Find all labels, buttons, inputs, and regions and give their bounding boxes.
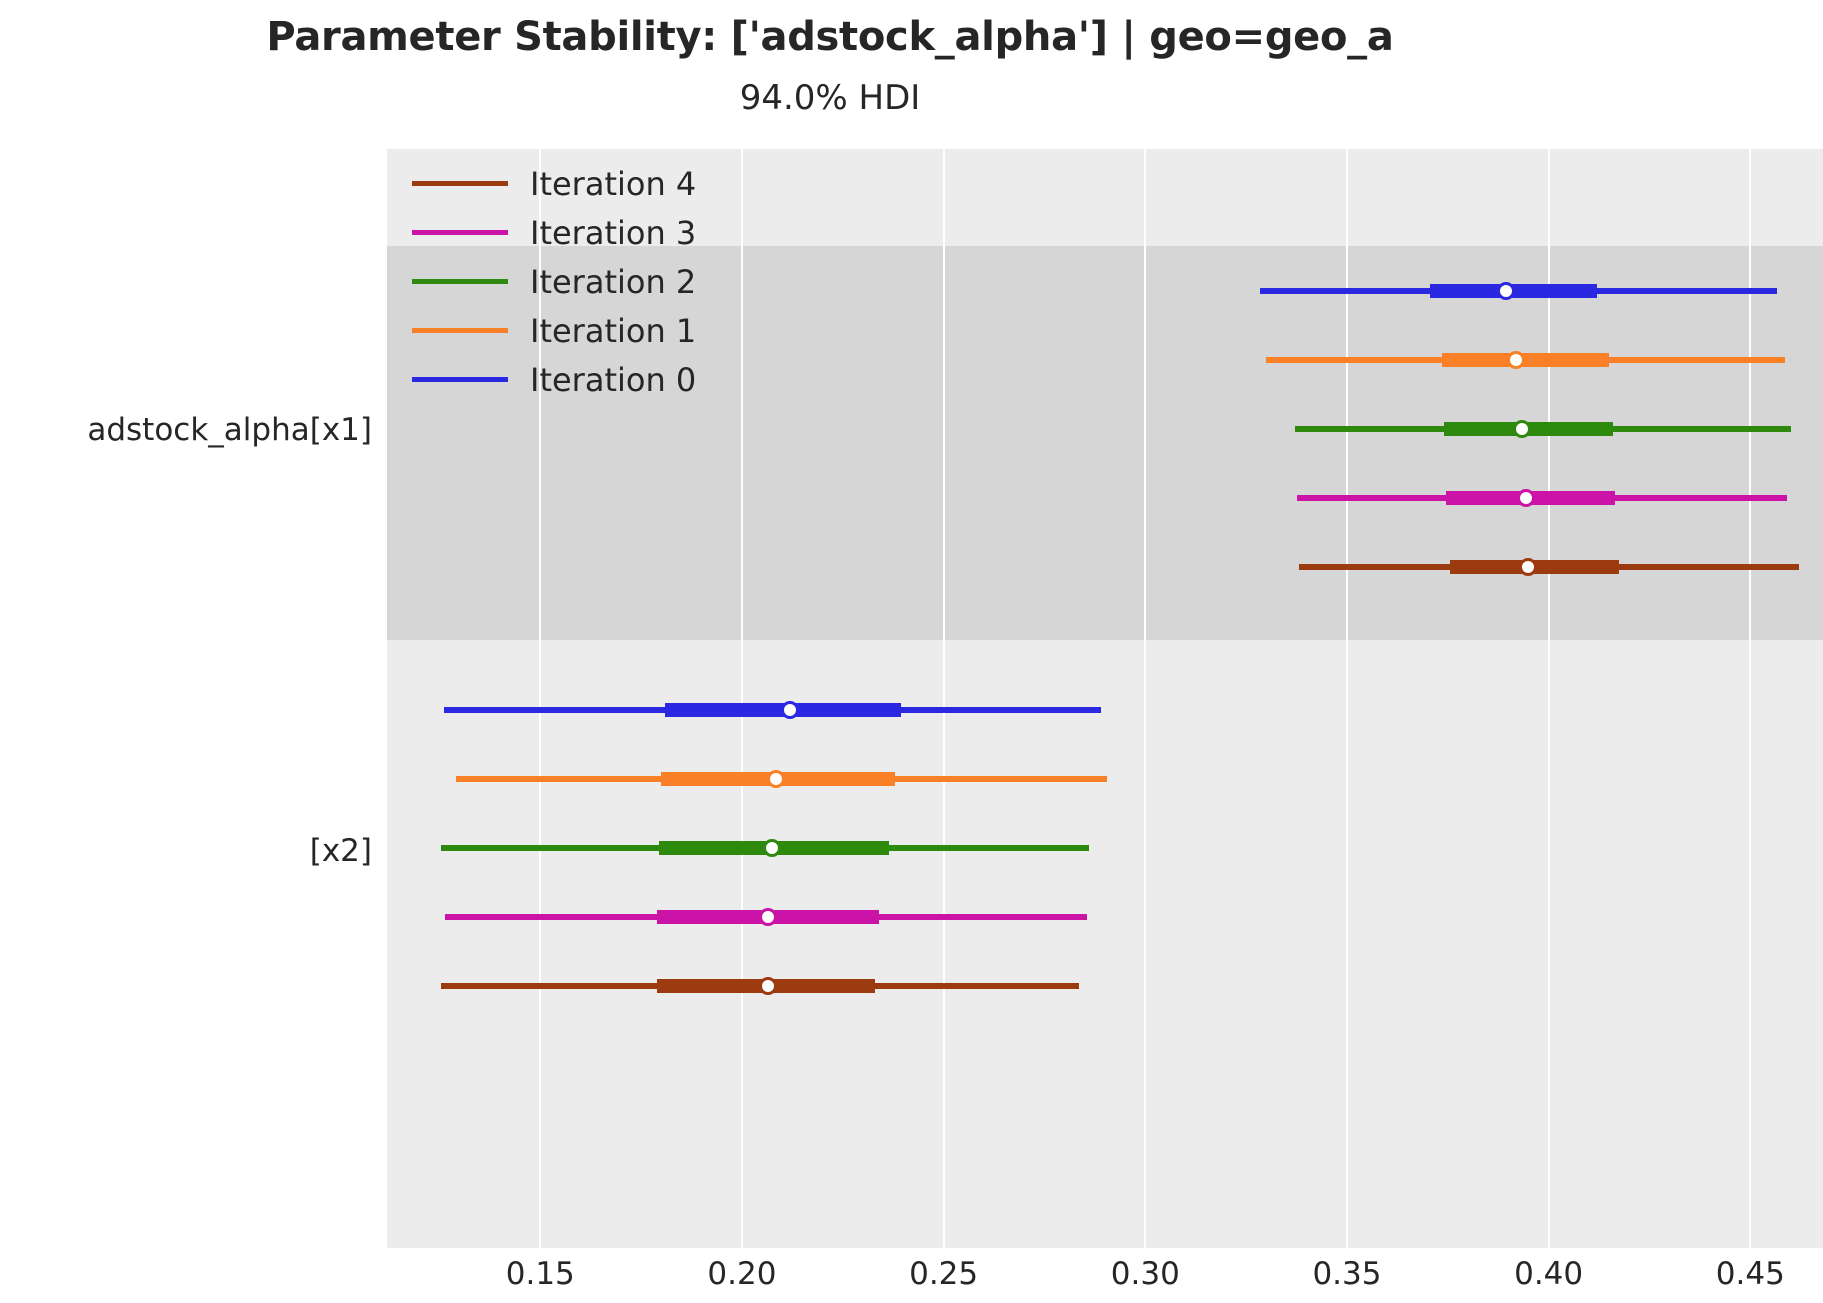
xtick-label-0.20: 0.20 <box>707 1256 776 1292</box>
legend-item-iteration-1[interactable]: Iteration 1 <box>412 306 696 355</box>
mean-marker-iteration-4 <box>759 977 777 995</box>
mean-marker-iteration-3 <box>1517 489 1535 507</box>
legend-label-3: Iteration 1 <box>530 315 696 347</box>
gridline-0.30 <box>1144 149 1146 1248</box>
legend-line-icon-1 <box>412 230 508 235</box>
legend: Iteration 4Iteration 3Iteration 2Iterati… <box>412 159 696 404</box>
plot-area: Iteration 4Iteration 3Iteration 2Iterati… <box>387 149 1823 1248</box>
mean-marker-iteration-2 <box>1513 420 1531 438</box>
ytick-label-adstock-alpha-x1: adstock_alpha[x1] <box>0 412 372 448</box>
legend-line-icon-3 <box>412 328 508 333</box>
gridline-0.35 <box>1346 149 1348 1248</box>
mean-marker-iteration-0 <box>781 701 799 719</box>
legend-line-icon-4 <box>412 377 508 382</box>
mean-marker-iteration-0 <box>1497 282 1515 300</box>
chart-subtitle: 94.0% HDI <box>0 78 1660 118</box>
mean-marker-iteration-4 <box>1519 558 1537 576</box>
mean-marker-iteration-3 <box>759 908 777 926</box>
xtick-label-0.15: 0.15 <box>506 1256 575 1292</box>
legend-label-1: Iteration 3 <box>530 217 696 249</box>
legend-line-icon-0 <box>412 181 508 186</box>
xtick-label-0.45: 0.45 <box>1716 1256 1785 1292</box>
xtick-label-0.25: 0.25 <box>909 1256 978 1292</box>
legend-item-iteration-0[interactable]: Iteration 0 <box>412 355 696 404</box>
page-title: Parameter Stability: ['adstock_alpha'] |… <box>0 14 1660 60</box>
mean-marker-iteration-1 <box>1507 351 1525 369</box>
legend-line-icon-2 <box>412 279 508 284</box>
legend-item-iteration-4[interactable]: Iteration 4 <box>412 159 696 208</box>
legend-item-iteration-2[interactable]: Iteration 2 <box>412 257 696 306</box>
legend-item-iteration-3[interactable]: Iteration 3 <box>412 208 696 257</box>
legend-label-0: Iteration 4 <box>530 168 696 200</box>
gridline-0.45 <box>1749 149 1751 1248</box>
xtick-label-0.30: 0.30 <box>1111 1256 1180 1292</box>
xtick-label-0.40: 0.40 <box>1514 1256 1583 1292</box>
mean-marker-iteration-2 <box>763 839 781 857</box>
gridline-0.20 <box>741 149 743 1248</box>
ytick-label-x2: [x2] <box>0 833 372 869</box>
legend-label-4: Iteration 0 <box>530 364 696 396</box>
forest-plot-figure: Parameter Stability: ['adstock_alpha'] |… <box>0 0 1823 1303</box>
iqr-interval-iteration-1 <box>1442 353 1609 367</box>
gridline-0.25 <box>943 149 945 1248</box>
gridline-0.40 <box>1548 149 1550 1248</box>
legend-label-2: Iteration 2 <box>530 266 696 298</box>
xtick-label-0.35: 0.35 <box>1312 1256 1381 1292</box>
mean-marker-iteration-1 <box>767 770 785 788</box>
